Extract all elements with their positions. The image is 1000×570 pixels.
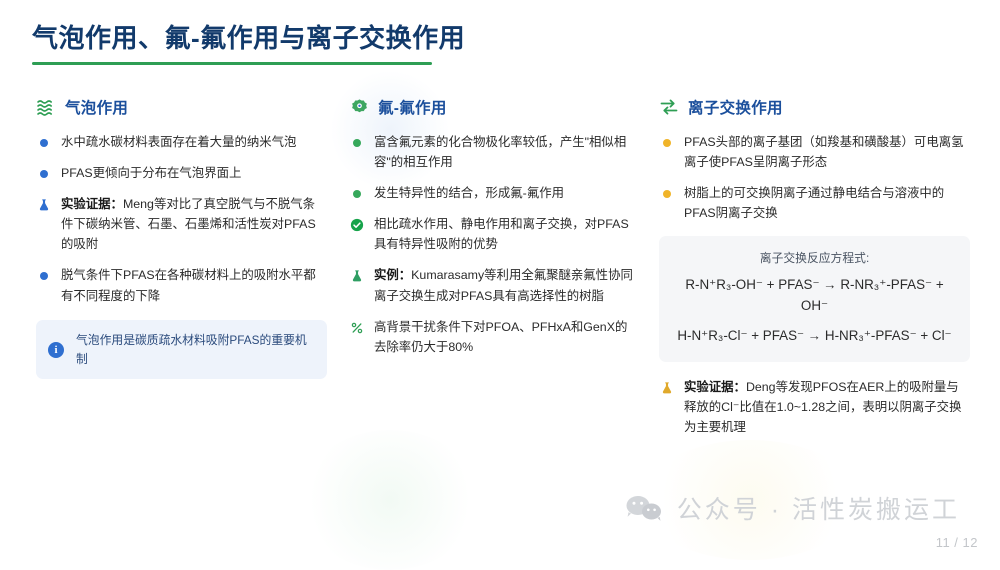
bullet-dot-blue-icon [36,166,52,182]
bullet-text: 实例：Kumarasamy等利用全氟聚醚亲氟性协同离子交换生成对PFAS具有高选… [374,265,637,305]
bullet-text: 高背景干扰条件下对PFOA、PFHxA和GenX的去除率仍大于80% [374,317,637,357]
column-3-bullet-list-after: 实验证据：Deng等发现PFOS在AER上的吸附量与释放的Cl⁻比值在1.0~1… [659,377,970,437]
exchange-arrows-icon [659,97,679,117]
column-2-bullet-list: 富含氟元素的化合物极化率较低，产生"相似相容"的相互作用 发生特异性的结合，形成… [349,132,637,357]
background-blob-green [300,430,480,570]
content-columns: 气泡作用 水中疏水碳材料表面存在着大量的纳米气泡 PFAS更倾向于分布在气泡界面… [0,96,1000,448]
info-callout-box: i 气泡作用是碳质疏水材料吸附PFAS的重要机制 [36,320,327,380]
bullet-body: Kumarasamy等利用全氟聚醚亲氟性协同离子交换生成对PFAS具有高选择性的… [374,268,633,302]
equation-box-title: 离子交换反应方程式: [673,249,956,266]
percent-icon [349,320,365,336]
list-item: 相比疏水作用、静电作用和离子交换，对PFAS具有特异性吸附的优势 [349,214,637,254]
bullet-text: 水中疏水碳材料表面存在着大量的纳米气泡 [61,132,296,152]
bullet-dot-blue-icon [36,268,52,284]
bullet-text: PFAS更倾向于分布在气泡界面上 [61,163,241,183]
column-2-title: 氟-氟作用 [378,96,447,118]
bullet-dot-blue-icon [36,135,52,151]
bullet-text: 树脂上的可交换阴离子通过静电结合与溶液中的PFAS阴离子交换 [684,183,970,223]
list-item: 脱气条件下PFAS在各种碳材料上的吸附水平都有不同程度的下降 [36,265,327,305]
list-item: 实例：Kumarasamy等利用全氟聚醚亲氟性协同离子交换生成对PFAS具有高选… [349,265,637,305]
bullet-text: 发生特异性的结合，形成氟-氟作用 [374,183,564,203]
list-item: 高背景干扰条件下对PFOA、PFHxA和GenX的去除率仍大于80% [349,317,637,357]
bullet-lead: 实验证据： [61,197,123,211]
list-item: 实验证据：Meng等对比了真空脱气与不脱气条件下碳纳米管、石墨、石墨烯和活性炭对… [36,194,327,254]
bullet-dot-green-icon [349,135,365,151]
column-3-bullet-list: PFAS头部的离子基团（如羧基和磺酸基）可电离氢离子使PFAS呈阴离子形态 树脂… [659,132,970,223]
bullet-dot-amber-icon [659,186,675,202]
bullet-lead: 实例： [374,268,411,282]
list-item: 树脂上的可交换阴离子通过静电结合与溶液中的PFAS阴离子交换 [659,183,970,223]
list-item: 实验证据：Deng等发现PFOS在AER上的吸附量与释放的Cl⁻比值在1.0~1… [659,377,970,437]
bullet-text: PFAS头部的离子基团（如羧基和磺酸基）可电离氢离子使PFAS呈阴离子形态 [684,132,970,172]
bullet-text: 相比疏水作用、静电作用和离子交换，对PFAS具有特异性吸附的优势 [374,214,637,254]
column-1-bullet-list: 水中疏水碳材料表面存在着大量的纳米气泡 PFAS更倾向于分布在气泡界面上 实验证… [36,132,327,306]
bullet-lead: 实验证据： [684,380,746,394]
bullet-text: 富含氟元素的化合物极化率较低，产生"相似相容"的相互作用 [374,132,637,172]
wechat-icon [623,493,665,523]
column-ion-exchange: 离子交换作用 PFAS头部的离子基团（如羧基和磺酸基）可电离氢离子使PFAS呈阴… [655,96,1000,448]
list-item: 发生特异性的结合，形成氟-氟作用 [349,183,637,203]
bullet-dot-green-icon [349,186,365,202]
flask-icon [36,197,52,213]
footer-brand: 公众号 · 活性炭搬运工 [623,490,960,526]
page-number: 11 / 12 [936,535,978,550]
flask-icon [349,268,365,284]
title-underline [32,62,432,65]
info-circle-icon: i [48,342,64,358]
page-title: 气泡作用、氟-氟作用与离子交换作用 [32,22,732,55]
bullet-text: 实验证据：Meng等对比了真空脱气与不脱气条件下碳纳米管、石墨、石墨烯和活性炭对… [61,194,327,254]
list-item: PFAS更倾向于分布在气泡界面上 [36,163,327,183]
slide-header: 气泡作用、氟-氟作用与离子交换作用 [32,22,732,65]
bullet-dot-amber-icon [659,135,675,151]
bullet-text: 脱气条件下PFAS在各种碳材料上的吸附水平都有不同程度的下降 [61,265,327,305]
list-item: 水中疏水碳材料表面存在着大量的纳米气泡 [36,132,327,152]
column-1-header: 气泡作用 [36,96,327,118]
atom-icon [349,97,369,117]
bullet-text: 实验证据：Deng等发现PFOS在AER上的吸附量与释放的Cl⁻比值在1.0~1… [684,377,970,437]
column-fluorine-effect: 氟-氟作用 富含氟元素的化合物极化率较低，产生"相似相容"的相互作用 发生特异性… [345,96,655,448]
flask-icon [659,380,675,396]
column-2-header: 氟-氟作用 [349,96,637,118]
column-3-title: 离子交换作用 [688,96,783,118]
equation-line: R-N⁺R₃-OH⁻ + PFAS⁻ → R-NR₃⁺-PFAS⁻ + OH⁻ [673,275,956,317]
equation-box: 离子交换反应方程式: R-N⁺R₃-OH⁻ + PFAS⁻ → R-NR₃⁺-P… [659,236,970,361]
column-bubble-effect: 气泡作用 水中疏水碳材料表面存在着大量的纳米气泡 PFAS更倾向于分布在气泡界面… [0,96,345,448]
list-item: PFAS头部的离子基团（如羧基和磺酸基）可电离氢离子使PFAS呈阴离子形态 [659,132,970,172]
equation-line: H-N⁺R₃-Cl⁻ + PFAS⁻ → H-NR₃⁺-PFAS⁻ + Cl⁻ [673,326,956,347]
list-item: 富含氟元素的化合物极化率较低，产生"相似相容"的相互作用 [349,132,637,172]
waves-icon [36,97,56,117]
info-callout-text: 气泡作用是碳质疏水材料吸附PFAS的重要机制 [76,331,313,369]
check-circle-icon [349,217,365,233]
footer-brand-text: 公众号 · 活性炭搬运工 [677,490,960,526]
column-1-title: 气泡作用 [65,96,128,118]
column-3-header: 离子交换作用 [659,96,970,118]
